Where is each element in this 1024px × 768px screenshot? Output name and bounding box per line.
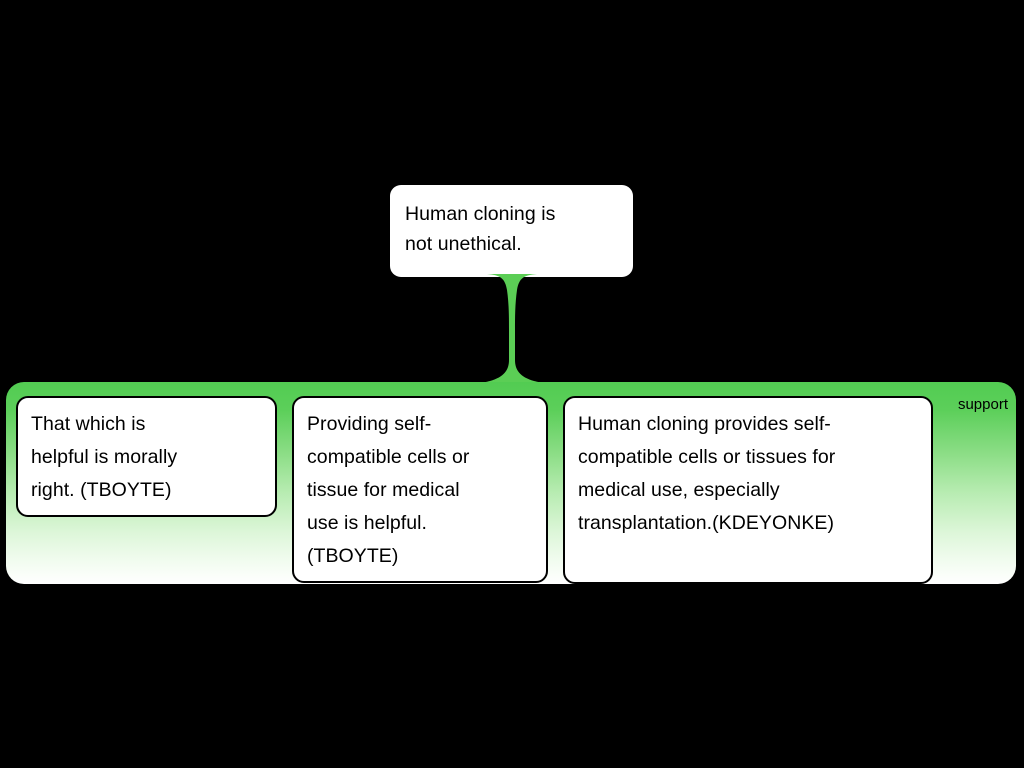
premise-node[interactable]: Human cloning provides self- compatible …	[563, 396, 933, 584]
support-connector-icon	[462, 274, 562, 386]
premise-text: That which is helpful is morally right. …	[31, 408, 262, 507]
argument-diagram-canvas: Human cloning is not unethical. support …	[0, 0, 1024, 768]
claim-node[interactable]: Human cloning is not unethical.	[390, 185, 633, 277]
premise-node[interactable]: That which is helpful is morally right. …	[16, 396, 277, 517]
premise-text: Providing self- compatible cells or tiss…	[307, 408, 533, 573]
support-relation-label: support	[958, 396, 1008, 414]
claim-text: Human cloning is not unethical.	[405, 199, 617, 259]
premise-text: Human cloning provides self- compatible …	[578, 408, 918, 540]
premise-node[interactable]: Providing self- compatible cells or tiss…	[292, 396, 548, 583]
